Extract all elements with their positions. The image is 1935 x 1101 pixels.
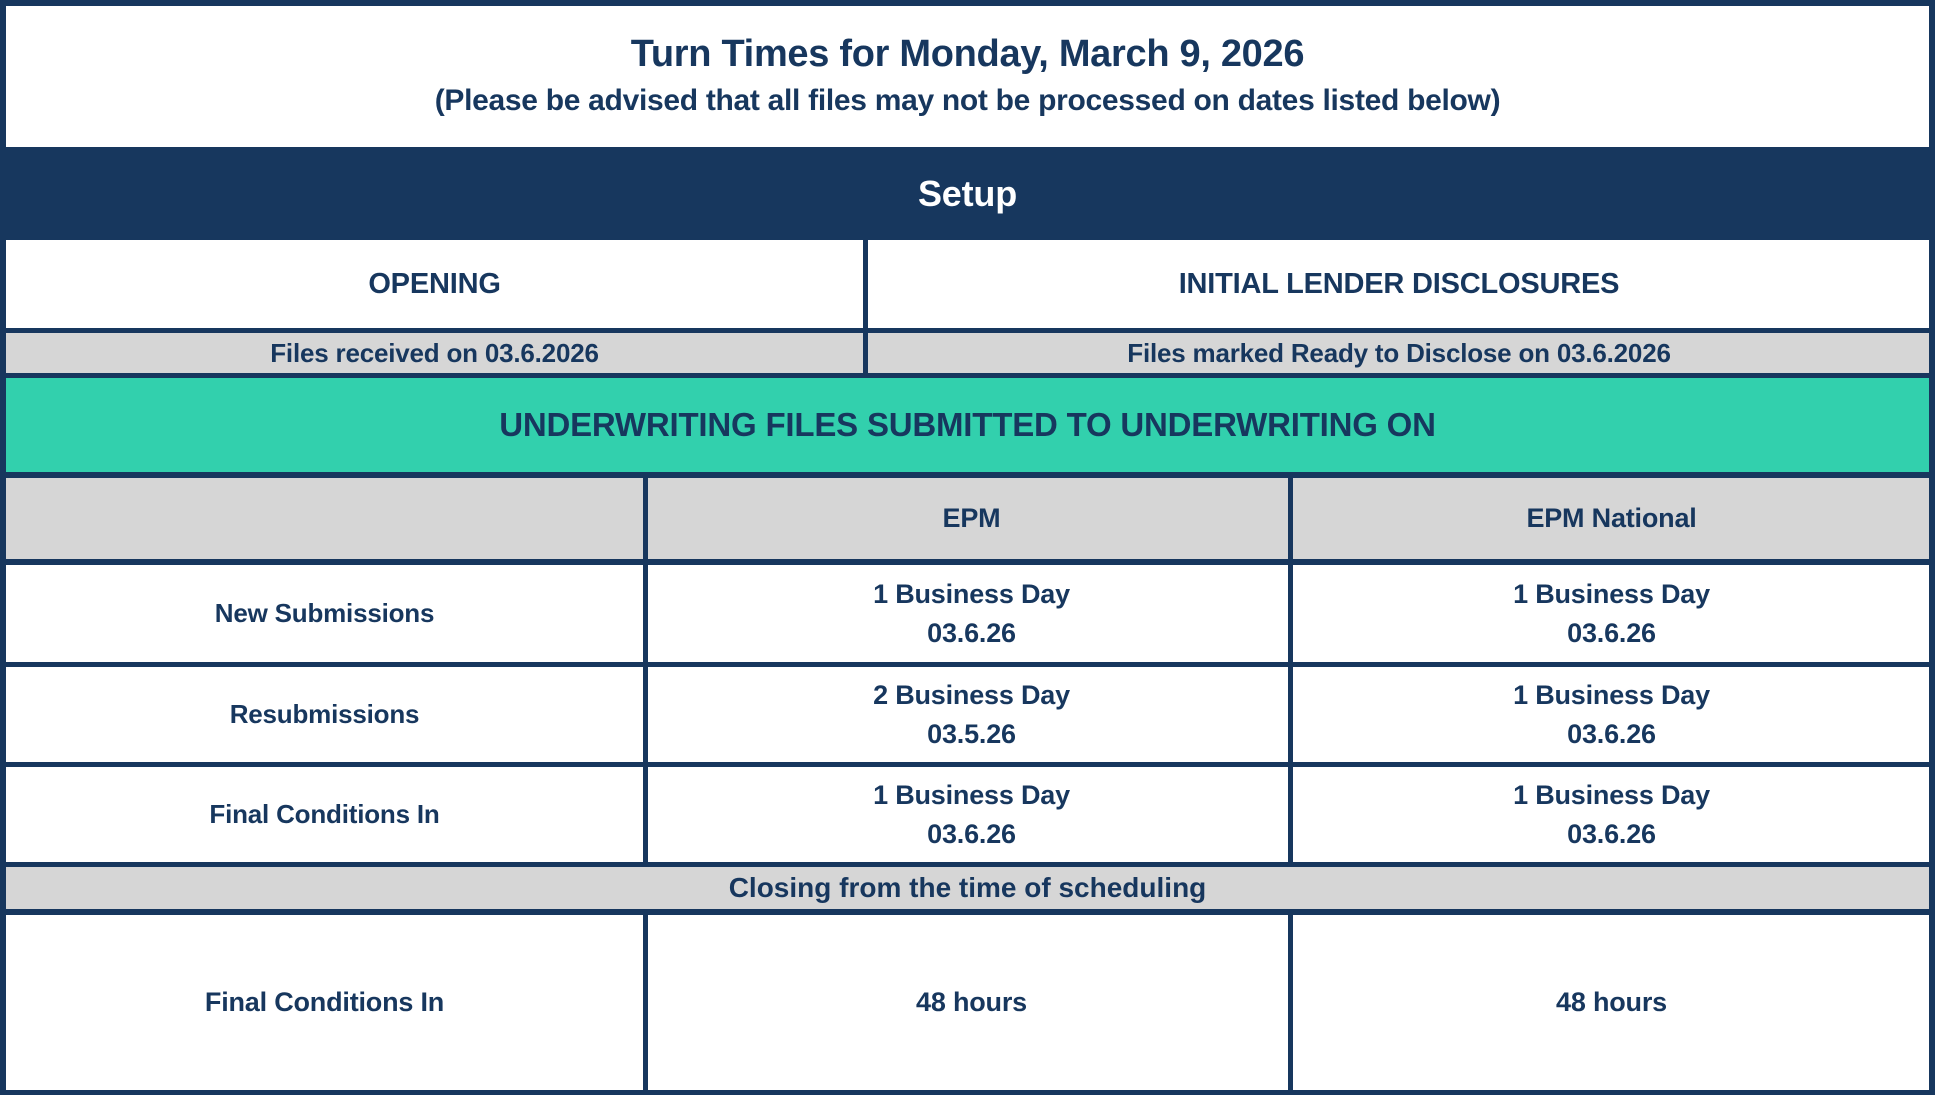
closing-section-band: Closing from the time of scheduling: [0, 867, 1935, 915]
turn-time-date: 03.6.26: [1567, 618, 1656, 649]
table-row: New Submissions 1 Business Day 03.6.26 1…: [0, 565, 1935, 667]
column-divider: [643, 565, 648, 662]
cell-new-submissions-epm-national: 1 Business Day 03.6.26: [1294, 565, 1929, 662]
cell-resubmissions-epm-national: 1 Business Day 03.6.26: [1294, 667, 1929, 762]
setup-value-opening: Files received on 03.6.2026: [6, 333, 863, 373]
setup-header-opening: OPENING: [6, 240, 863, 328]
turn-time-days: 1 Business Day: [1513, 780, 1710, 811]
setup-section-band: Setup: [0, 147, 1935, 240]
page-title: Turn Times for Monday, March 9, 2026: [631, 34, 1304, 76]
turn-time-days: 1 Business Day: [1513, 680, 1710, 711]
column-divider: [1288, 767, 1293, 862]
turn-time-days: 1 Business Day: [873, 579, 1070, 610]
column-divider: [863, 333, 868, 373]
cell-closing-epm: 48 hours: [649, 915, 1294, 1090]
column-divider: [1288, 915, 1293, 1090]
column-divider: [1288, 565, 1293, 662]
column-header-epm-national: EPM National: [1294, 478, 1929, 559]
column-divider: [863, 240, 868, 328]
table-row: Final Conditions In 1 Business Day 03.6.…: [0, 767, 1935, 867]
underwriting-section-band: UNDERWRITING FILES SUBMITTED TO UNDERWRI…: [0, 378, 1935, 478]
row-label-new-submissions: New Submissions: [6, 565, 643, 662]
turn-time-days: 2 Business Day: [873, 680, 1070, 711]
turn-time-date: 03.6.26: [1567, 819, 1656, 850]
underwriting-column-header-row: EPM EPM National: [0, 478, 1935, 565]
turn-time-date: 03.6.26: [927, 819, 1016, 850]
column-divider: [1288, 478, 1293, 559]
page-subtitle: (Please be advised that all files may no…: [435, 82, 1501, 120]
cell-final-conditions-in-epm: 1 Business Day 03.6.26: [649, 767, 1294, 862]
setup-value-initial-lender-disclosures: Files marked Ready to Disclose on 03.6.2…: [869, 333, 1929, 373]
setup-header-initial-lender-disclosures: INITIAL LENDER DISCLOSURES: [869, 240, 1929, 328]
row-label-closing-final-conditions-in: Final Conditions In: [6, 915, 643, 1090]
turn-time-days: 1 Business Day: [873, 780, 1070, 811]
row-label-resubmissions: Resubmissions: [6, 667, 643, 762]
column-divider: [643, 478, 648, 559]
cell-closing-epm-national: 48 hours: [1294, 915, 1929, 1090]
cell-resubmissions-epm: 2 Business Day 03.5.26: [649, 667, 1294, 762]
cell-new-submissions-epm: 1 Business Day 03.6.26: [649, 565, 1294, 662]
setup-value-row: Files received on 03.6.2026 Files marked…: [0, 333, 1935, 378]
column-divider: [643, 915, 648, 1090]
underwriting-band-label: UNDERWRITING FILES SUBMITTED TO UNDERWRI…: [499, 406, 1436, 444]
turn-time-date: 03.6.26: [927, 618, 1016, 649]
column-divider: [643, 767, 648, 862]
setup-band-label: Setup: [918, 173, 1017, 215]
cell-final-conditions-in-epm-national: 1 Business Day 03.6.26: [1294, 767, 1929, 862]
row-label-final-conditions-in: Final Conditions In: [6, 767, 643, 862]
setup-header-row: OPENING INITIAL LENDER DISCLOSURES: [0, 240, 1935, 333]
turn-time-date: 03.6.26: [1567, 719, 1656, 750]
turn-times-document: Turn Times for Monday, March 9, 2026 (Pl…: [0, 0, 1935, 1101]
column-divider: [1288, 667, 1293, 762]
turn-time-days: 1 Business Day: [1513, 579, 1710, 610]
table-row: Final Conditions In 48 hours 48 hours: [0, 915, 1935, 1095]
table-row: Resubmissions 2 Business Day 03.5.26 1 B…: [0, 667, 1935, 767]
closing-band-label: Closing from the time of scheduling: [729, 872, 1207, 904]
column-divider: [643, 667, 648, 762]
turn-time-date: 03.5.26: [927, 719, 1016, 750]
document-header: Turn Times for Monday, March 9, 2026 (Pl…: [0, 0, 1935, 147]
column-header-epm: EPM: [649, 478, 1294, 559]
column-header-blank: [6, 478, 643, 559]
